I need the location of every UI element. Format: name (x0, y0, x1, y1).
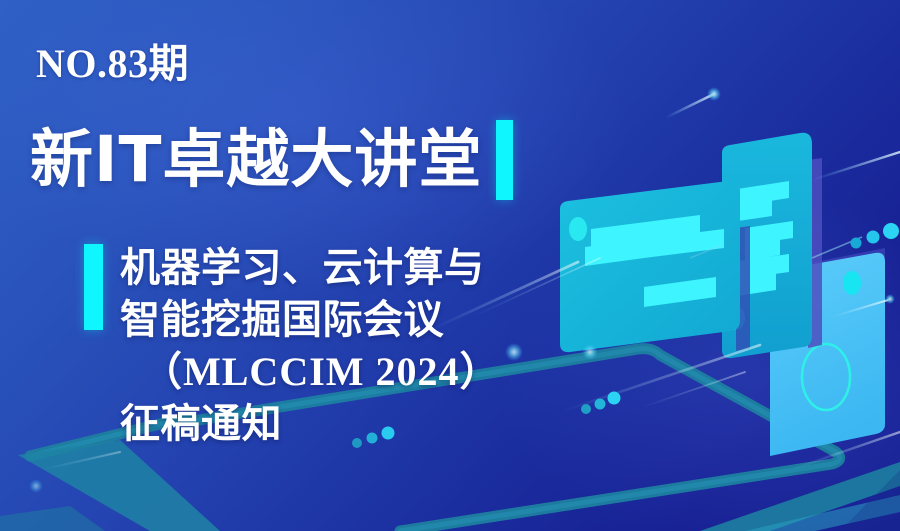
cyan-accent-bar-subtitle (84, 244, 103, 330)
card-ring (802, 344, 850, 410)
card-line (652, 229, 724, 257)
glow-dots-right (851, 223, 900, 249)
right-light-card (770, 248, 885, 456)
subtitle-row: 机器学习、云计算与 智能挖掘国际会议 （MLCCIM 2024） 征稿通知 (84, 242, 501, 450)
subtitle-line-4: 征稿通知 (120, 398, 501, 450)
subtitle-line-3: （MLCCIM 2024） (120, 346, 501, 398)
poster-banner: NO.83期 新IT卓越大讲堂 机器学习、云计算与 智能挖掘国际会议 （MLCC… (0, 0, 900, 531)
issue-label: NO.83期 (36, 44, 189, 84)
center-tall-card (722, 133, 822, 358)
card-line (745, 221, 793, 245)
page-title: 新IT卓越大讲堂 (30, 128, 482, 191)
text-block: NO.83期 新IT卓越大讲堂 机器学习、云计算与 智能挖掘国际会议 （MLCC… (0, 0, 620, 531)
lower-teal-band (700, 462, 900, 531)
card-line (644, 277, 716, 307)
cyan-accent-bar-title (496, 120, 513, 200)
card-line (745, 238, 780, 261)
card-line (731, 181, 789, 207)
card-dot (727, 306, 745, 330)
subtitle-line-1: 机器学习、云计算与 (120, 242, 501, 294)
card-line (731, 272, 776, 297)
main-title-row: 新IT卓越大讲堂 (30, 118, 513, 200)
card-dot (843, 271, 861, 295)
subtitle-lines: 机器学习、云计算与 智能挖掘国际会议 （MLCCIM 2024） 征稿通知 (120, 242, 501, 450)
subtitle-line-2: 智能挖掘国际会议 (120, 294, 501, 346)
card-line (731, 200, 772, 222)
card-line (731, 254, 789, 280)
connector-lines (690, 237, 862, 258)
